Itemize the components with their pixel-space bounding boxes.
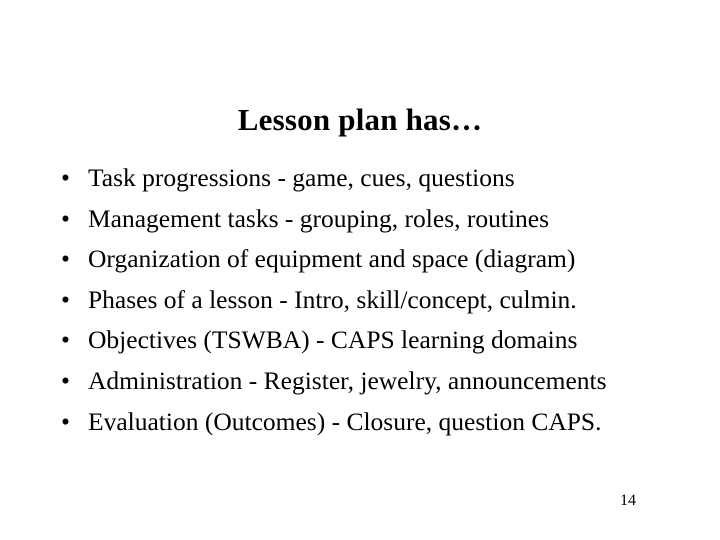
bullet-point-icon: •	[61, 361, 75, 402]
bullet-list-item: • Phases of a lesson - Intro, skill/conc…	[54, 280, 684, 321]
bullet-item-label: Objectives (TSWBA) - CAPS learning domai…	[88, 325, 577, 354]
bullet-list-item: • Task progressions - game, cues, questi…	[54, 158, 684, 199]
bullet-point-icon: •	[61, 402, 75, 443]
bullet-item-label: Evaluation (Outcomes) - Closure, questio…	[88, 407, 602, 436]
bullet-point-icon: •	[61, 320, 75, 361]
bullet-list-item: • Administration - Register, jewelry, an…	[54, 361, 684, 402]
slide-title: Lesson plan has…	[54, 101, 666, 139]
bullet-list-item: • Objectives (TSWBA) - CAPS learning dom…	[54, 320, 684, 361]
bullet-item-label: Organization of equipment and space (dia…	[88, 244, 575, 273]
slide-body: • Task progressions - game, cues, questi…	[54, 158, 684, 442]
bullet-point-icon: •	[61, 158, 75, 199]
presentation-slide: Lesson plan has… • Task progressions - g…	[0, 0, 720, 540]
bullet-list-item: • Evaluation (Outcomes) - Closure, quest…	[54, 402, 684, 443]
bullet-list: • Task progressions - game, cues, questi…	[54, 158, 684, 442]
bullet-point-icon: •	[61, 239, 75, 280]
bullet-list-item: • Management tasks - grouping, roles, ro…	[54, 199, 684, 240]
slide-page-number: 14	[596, 491, 660, 511]
bullet-item-label: Management tasks - grouping, roles, rout…	[88, 204, 549, 233]
bullet-list-item: • Organization of equipment and space (d…	[54, 239, 684, 280]
bullet-point-icon: •	[61, 199, 75, 240]
bullet-item-label: Administration - Register, jewelry, anno…	[88, 366, 607, 395]
bullet-item-label: Task progressions - game, cues, question…	[88, 163, 515, 192]
bullet-point-icon: •	[61, 280, 75, 321]
bullet-item-label: Phases of a lesson - Intro, skill/concep…	[88, 285, 577, 314]
